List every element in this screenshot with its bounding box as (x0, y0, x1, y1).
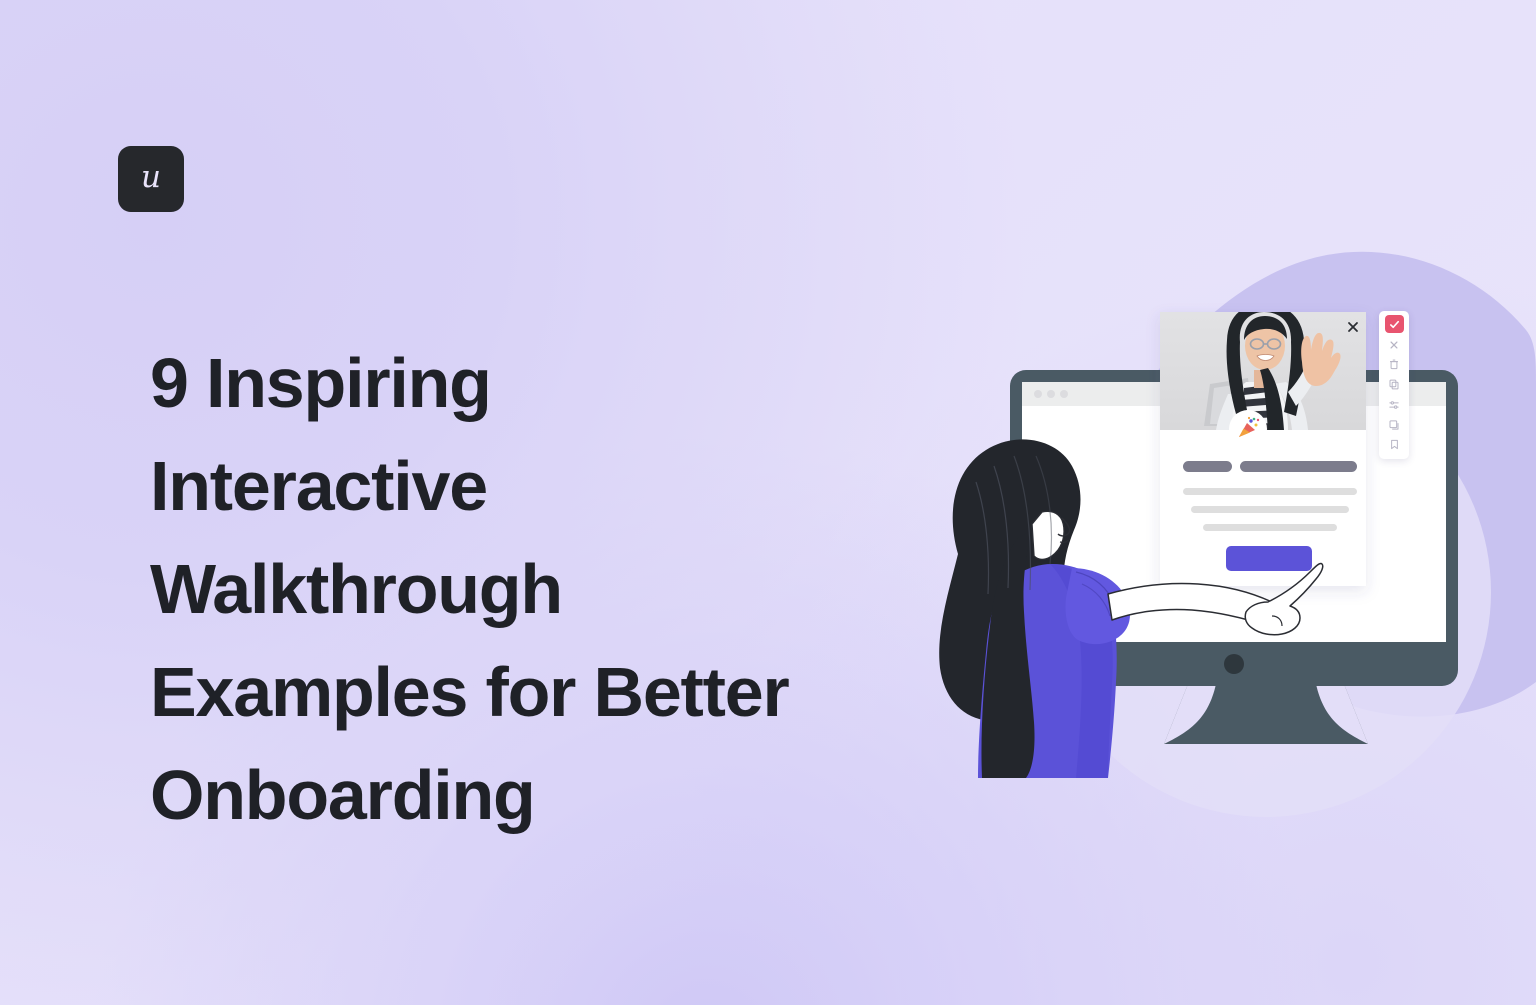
celebration-badge (1229, 410, 1267, 448)
modal-title-bar (1183, 461, 1232, 472)
modal-body-line (1203, 524, 1337, 531)
userpilot-logo[interactable]: u (118, 146, 184, 212)
close-icon[interactable] (1385, 336, 1404, 353)
check-icon[interactable] (1385, 315, 1404, 333)
layers-icon[interactable] (1385, 416, 1404, 433)
modal-cta-button (1226, 546, 1312, 571)
browser-dot (1034, 390, 1042, 398)
copy-icon[interactable] (1385, 376, 1404, 393)
modal-body-line (1191, 506, 1349, 513)
logo-mark: u (141, 162, 161, 193)
page-title: 9 Inspiring Interactive Walkthrough Exam… (150, 332, 850, 847)
trash-icon[interactable] (1385, 356, 1404, 373)
modal-title-bar (1240, 461, 1357, 472)
settings-icon[interactable] (1385, 396, 1404, 413)
browser-dot (1060, 390, 1068, 398)
browser-dot (1047, 390, 1055, 398)
modal-body-line (1183, 488, 1357, 495)
monitor-power-led (1224, 654, 1244, 674)
hero-banner: u 9 Inspiring Interactive Walkthrough Ex… (0, 0, 1536, 1005)
onboarding-modal (1160, 304, 1366, 586)
bookmark-icon[interactable] (1385, 436, 1404, 453)
interactive-walkthrough-illustration (836, 212, 1536, 852)
builder-toolbar[interactable] (1379, 311, 1409, 459)
